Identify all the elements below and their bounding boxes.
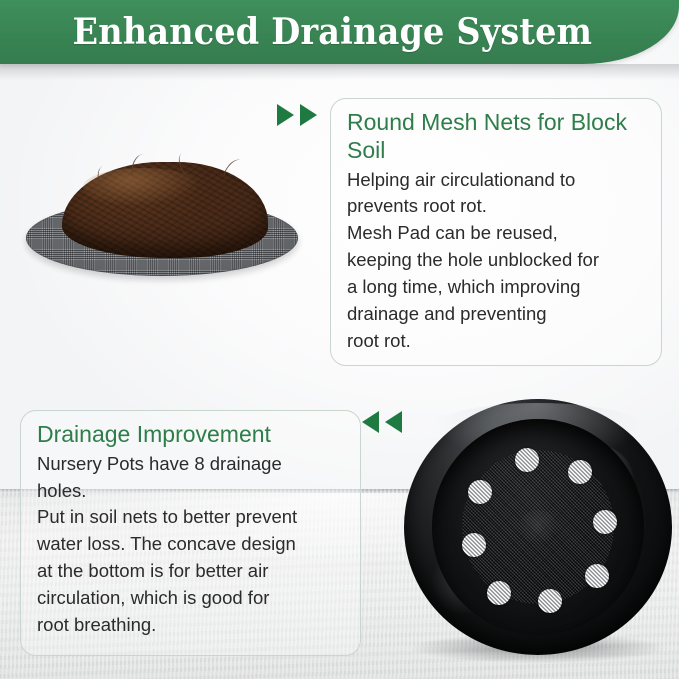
banner-dropshadow: [0, 64, 679, 80]
triangle-left-icon: [362, 411, 379, 433]
double-triangle-left-icon: [362, 411, 402, 433]
double-triangle-right-icon: [277, 104, 317, 126]
card-heading: Round Mesh Nets for Block Soil: [347, 109, 645, 165]
drainage-hole: [593, 510, 617, 534]
triangle-left-icon: [385, 411, 402, 433]
product-infographic: Enhanced Drainage System Round gray mesh…: [0, 0, 679, 679]
pot-body: [404, 399, 672, 655]
mesh-with-soil-photo: Round gray mesh net disc topped with a p…: [12, 152, 312, 292]
card-body: Helping air circulationand to prevents r…: [347, 167, 645, 355]
drainage-hole: [487, 581, 511, 605]
drainage-hole: [468, 480, 492, 504]
drainage-hole: [585, 564, 609, 588]
pot-photo-alt: Black nursery pot viewed from above show…: [404, 399, 405, 400]
info-card-round-mesh-nets: Round Mesh Nets for Block Soil Helping a…: [330, 98, 662, 366]
pot-interior: [432, 419, 644, 634]
nursery-pot-photo: Black nursery pot viewed from above show…: [404, 399, 672, 657]
drainage-hole: [568, 460, 592, 484]
page-title: Enhanced Drainage System: [73, 14, 593, 50]
header-banner: Enhanced Drainage System: [0, 0, 679, 64]
card-heading: Drainage Improvement: [37, 421, 344, 449]
card-body: Nursery Pots have 8 drainage holes. Put …: [37, 451, 344, 639]
triangle-right-icon: [277, 104, 294, 126]
pot-concave-center: [519, 510, 557, 544]
info-card-drainage-improvement: Drainage Improvement Nursery Pots have 8…: [20, 410, 361, 656]
mesh-photo-alt: Round gray mesh net disc topped with a p…: [12, 152, 13, 153]
triangle-right-icon: [300, 104, 317, 126]
drainage-hole: [538, 589, 562, 613]
